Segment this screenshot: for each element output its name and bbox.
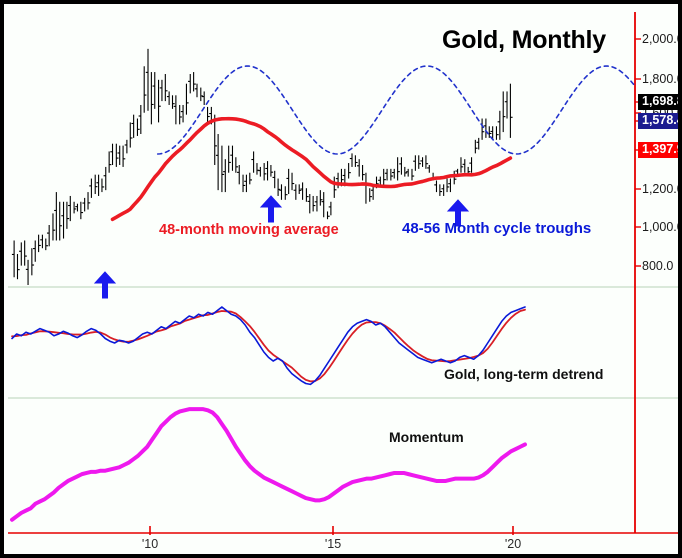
annotation-cycle-troughs: 48-56 Month cycle troughs (402, 220, 591, 237)
ohlc-bar-series (12, 49, 513, 285)
moving-average-line (113, 119, 511, 220)
y-tick-label: 1,000.0 (642, 220, 682, 234)
y-tick-label: 2,000.0 (642, 32, 682, 46)
gold-monthly-chart: Gold, Monthly 48-month moving average 48… (0, 0, 682, 558)
annotation-momentum: Momentum (389, 429, 464, 445)
annotation-detrend: Gold, long-term detrend (444, 366, 603, 382)
y-tick-label: 1,800.0 (642, 72, 682, 86)
chart-plot-area (4, 4, 682, 558)
cycle-trough-arrow-1 (95, 272, 115, 298)
x-tick-label: '20 (505, 537, 521, 551)
x-tick-label: '10 (142, 537, 158, 551)
page-title: Gold, Monthly (442, 26, 606, 55)
momentum-line (12, 409, 525, 520)
y-value-badge: 1,578.4 (638, 113, 682, 129)
y-tick-label: 1,200.0 (642, 182, 682, 196)
annotation-moving-average: 48-month moving average (159, 222, 339, 238)
y-value-badge: 1,698.8 (638, 94, 682, 110)
y-value-badge: 1,397.9 (638, 142, 682, 158)
cycle-trough-arrow-2 (261, 196, 281, 222)
cycle-projection-line (158, 66, 635, 154)
x-tick-label: '15 (325, 537, 341, 551)
y-tick-label: 800.0 (642, 259, 673, 273)
